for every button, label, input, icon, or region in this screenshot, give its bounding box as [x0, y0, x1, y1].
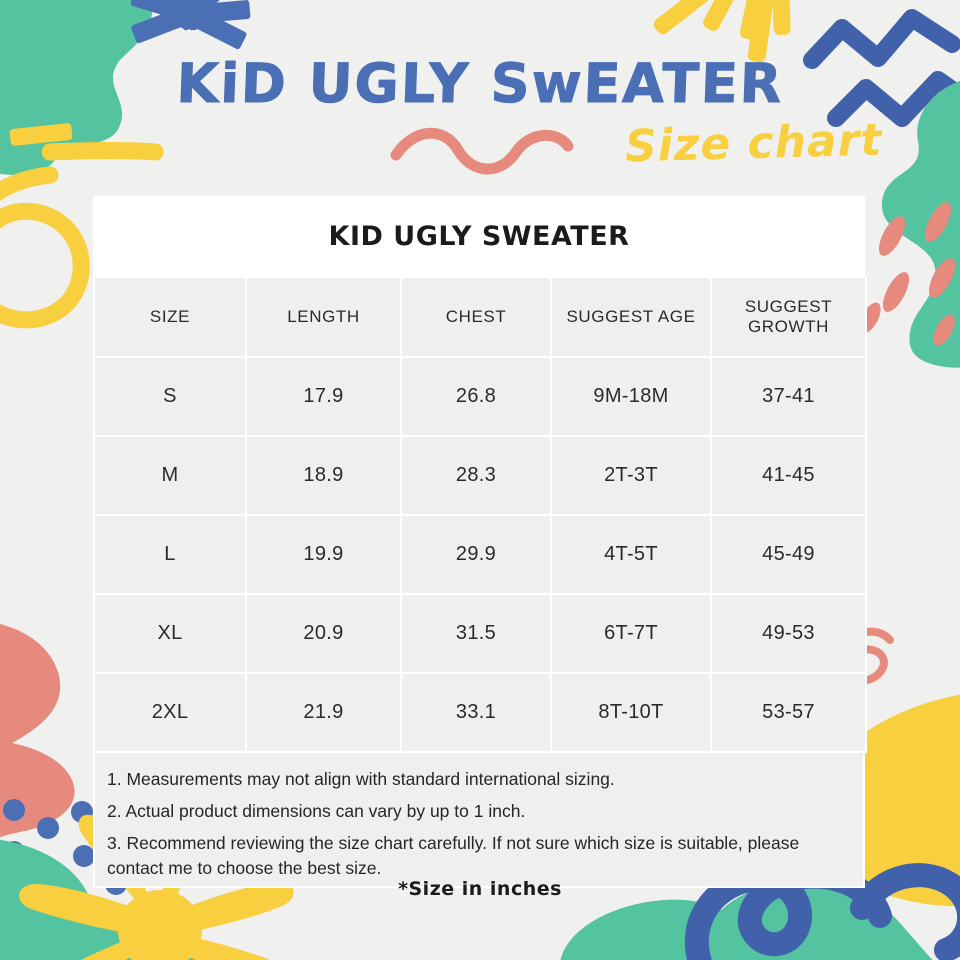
cell-size: 2XL [94, 673, 246, 752]
cell-chest: 28.3 [401, 436, 551, 515]
notes-block: 1. Measurements may not align with stand… [93, 753, 865, 888]
cell-growth: 53-57 [711, 673, 866, 752]
size-chart-page: KiD UGLY SwEATER Size chart KID UGLY SWE… [0, 0, 960, 960]
table-header-row: SIZE LENGTH CHEST SUGGEST AGE SUGGEST GR… [94, 277, 866, 357]
cell-chest: 31.5 [401, 594, 551, 673]
pink-blob-left-2 [0, 735, 75, 860]
table-row: S 17.9 26.8 9M-18M 37-41 [94, 357, 866, 436]
cell-chest: 33.1 [401, 673, 551, 752]
teal-blob-bottom-mid [560, 900, 764, 960]
column-header-growth: SUGGEST GROWTH [711, 277, 866, 357]
cell-growth: 41-45 [711, 436, 866, 515]
cell-length: 18.9 [246, 436, 401, 515]
cell-size: XL [94, 594, 246, 673]
cell-size: L [94, 515, 246, 594]
card-header: KID UGLY SWEATER [93, 196, 865, 276]
cell-age: 6T-7T [551, 594, 711, 673]
cell-growth: 49-53 [711, 594, 866, 673]
cell-length: 21.9 [246, 673, 401, 752]
table-row: L 19.9 29.9 4T-5T 45-49 [94, 515, 866, 594]
cell-growth: 37-41 [711, 357, 866, 436]
cell-age: 4T-5T [551, 515, 711, 594]
column-header-age: SUGGEST AGE [551, 277, 711, 357]
card-heading: KID UGLY SWEATER [329, 221, 630, 252]
cell-age: 2T-3T [551, 436, 711, 515]
column-header-chest: CHEST [401, 277, 551, 357]
cell-size: S [94, 357, 246, 436]
note-item: 3. Recommend reviewing the size chart ca… [107, 831, 851, 881]
note-item: 2. Actual product dimensions can vary by… [107, 799, 851, 824]
table-row: 2XL 21.9 33.1 8T-10T 53-57 [94, 673, 866, 752]
page-subtitle: Size chart [624, 115, 883, 173]
yellow-loop-icon [0, 175, 81, 320]
cell-length: 17.9 [246, 357, 401, 436]
size-chart-card: KID UGLY SWEATER SIZE LENGTH CHEST SUGGE… [93, 196, 865, 872]
cell-size: M [94, 436, 246, 515]
cell-age: 8T-10T [551, 673, 711, 752]
column-header-size: SIZE [94, 277, 246, 357]
table-row: XL 20.9 31.5 6T-7T 49-53 [94, 594, 866, 673]
unit-note: *Size in inches [0, 878, 960, 900]
pink-dashes-right [855, 198, 960, 348]
cell-chest: 29.9 [401, 515, 551, 594]
page-title: KiD UGLY SwEATER [0, 52, 960, 115]
cell-chest: 26.8 [401, 357, 551, 436]
title-block: KiD UGLY SwEATER Size chart [0, 0, 960, 196]
size-chart-table: SIZE LENGTH CHEST SUGGEST AGE SUGGEST GR… [93, 276, 867, 753]
cell-age: 9M-18M [551, 357, 711, 436]
table-row: M 18.9 28.3 2T-3T 41-45 [94, 436, 866, 515]
column-header-length: LENGTH [246, 277, 401, 357]
cell-length: 20.9 [246, 594, 401, 673]
cell-length: 19.9 [246, 515, 401, 594]
note-item: 1. Measurements may not align with stand… [107, 767, 851, 792]
cell-growth: 45-49 [711, 515, 866, 594]
pink-blob-left [0, 610, 60, 790]
